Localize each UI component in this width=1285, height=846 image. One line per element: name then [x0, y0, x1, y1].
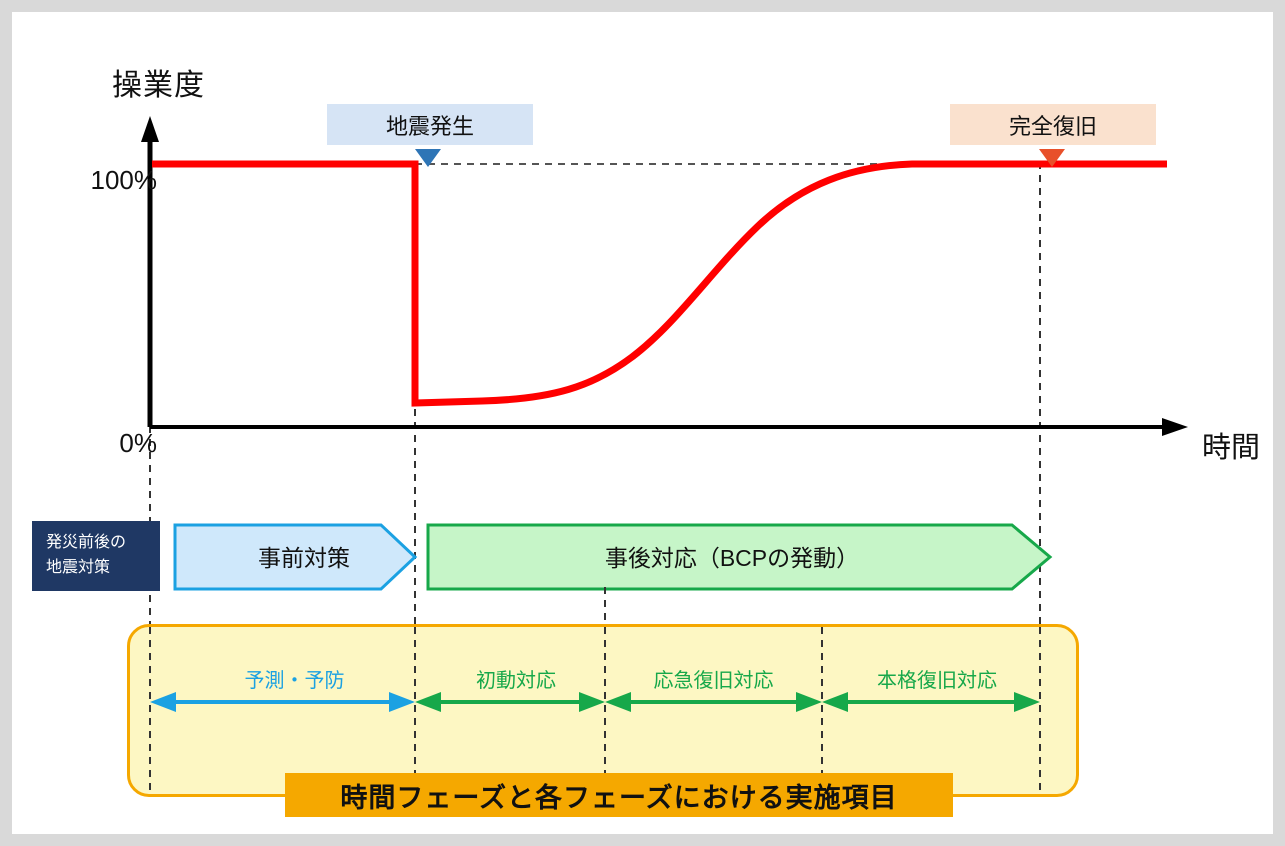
y-axis-title: 操業度: [112, 60, 205, 104]
phase-label-emergency-restoration: 応急復旧対応: [594, 664, 834, 693]
callout-earthquake-occurrence: 地震発生: [327, 104, 533, 145]
marker-recovery-triangle-icon: [1039, 149, 1065, 167]
y-tick-label-0: 0%: [72, 428, 157, 459]
measures-legend-box: 発災前後の 地震対策: [32, 521, 160, 591]
marker-earthquake-triangle-icon: [415, 149, 441, 167]
diagram-canvas: 操業度 時間 100% 0% 地震発生 完全復旧 発災前後の 地震対策 事前対策…: [12, 12, 1273, 834]
callout-full-recovery: 完全復旧: [950, 104, 1156, 145]
x-axis-title: 時間: [1202, 424, 1260, 466]
phase-label-prediction: 予測・予防: [175, 664, 415, 693]
phase-label-full-restoration: 本格復旧対応: [817, 664, 1057, 693]
band-label-pre-measures: 事前対策: [180, 524, 428, 588]
diagram-page: 操業度 時間 100% 0% 地震発生 完全復旧 発災前後の 地震対策 事前対策…: [0, 0, 1285, 846]
diagram-title-banner: 時間フェーズと各フェーズにおける実施項目: [285, 773, 953, 817]
measures-legend-line2: 地震対策: [46, 556, 110, 581]
y-tick-label-100: 100%: [72, 165, 157, 196]
measures-legend-line1: 発災前後の: [46, 531, 126, 556]
band-label-post-measures: 事後対応（BCPの発動）: [432, 524, 1032, 588]
